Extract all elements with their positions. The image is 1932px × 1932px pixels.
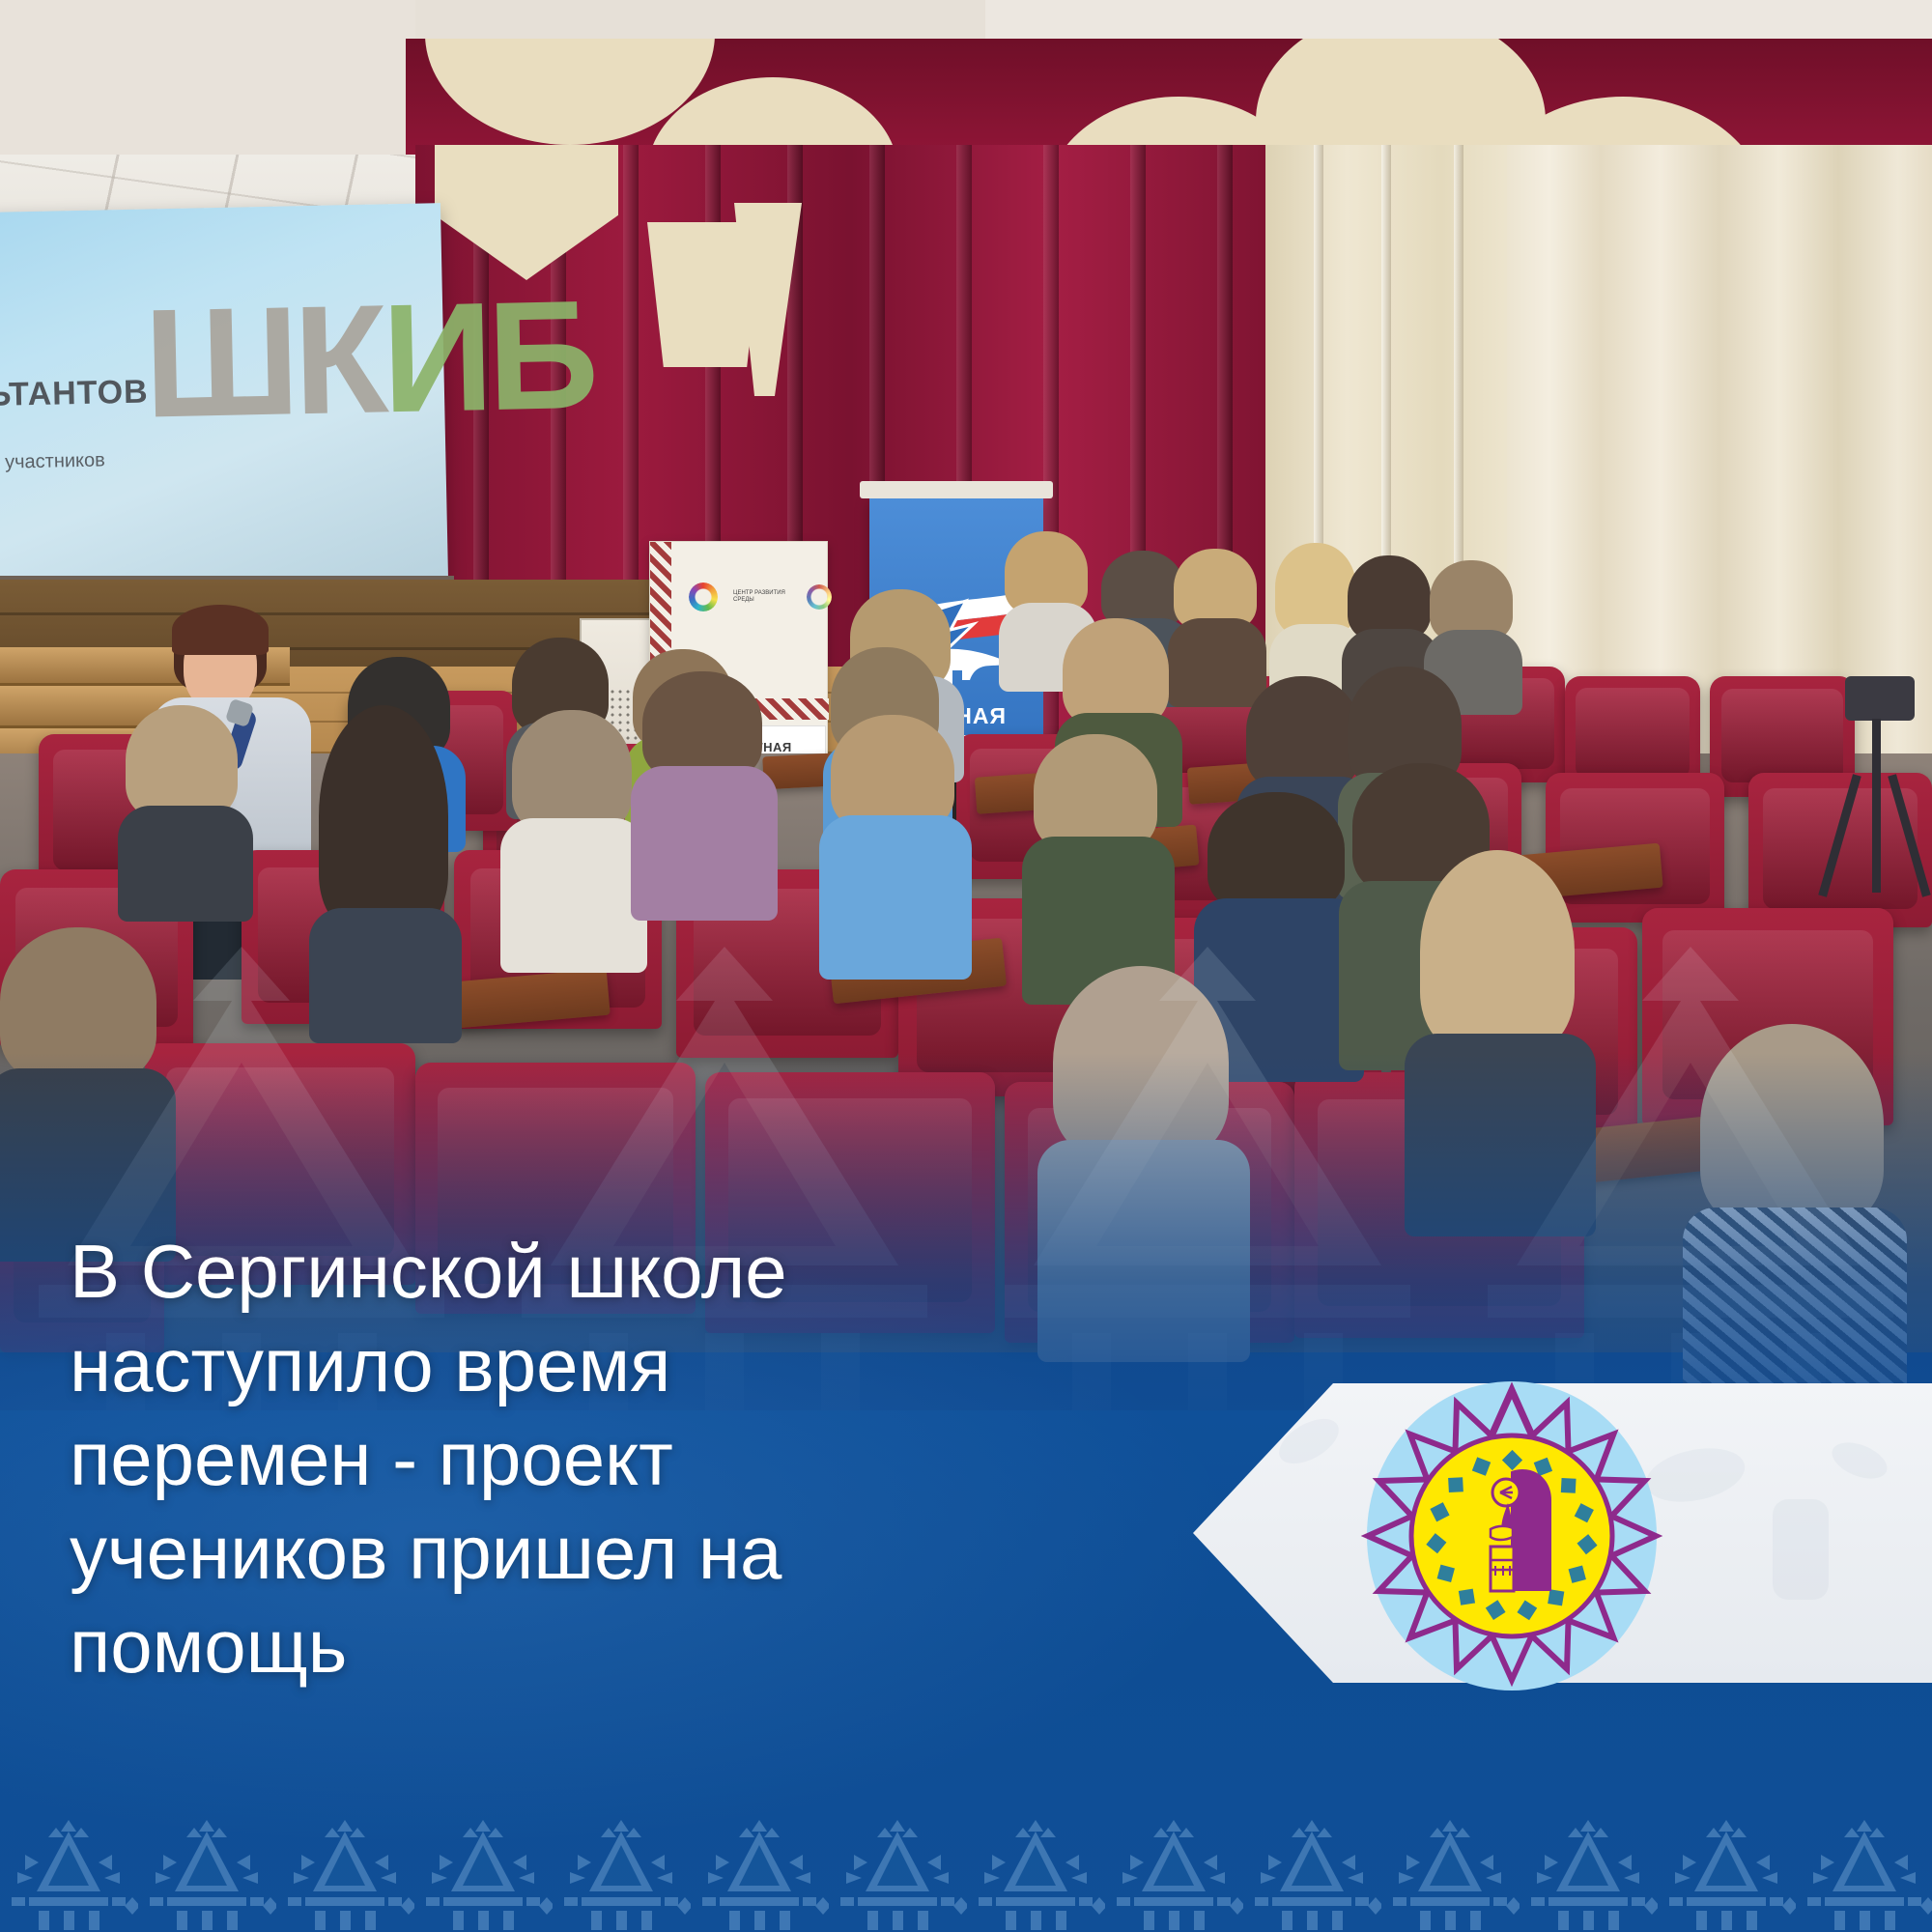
side-drape-right: [1507, 145, 1932, 763]
headline-line-5: помощь: [70, 1600, 1055, 1693]
projection-screen: ...УЛЬТАНТОВ ...ем всех участников ШКИБ: [0, 203, 448, 589]
social-media-post-card: ...УЛЬТАНТОВ ...ем всех участников ШКИБ …: [0, 0, 1932, 1932]
screen-line-2: ...ем всех участников: [0, 449, 105, 475]
headline-line-4: учеников пришел на: [70, 1506, 1055, 1600]
headline-line-3: перемен - проект: [70, 1412, 1055, 1506]
snowflake-ornament-band: [0, 1816, 1932, 1932]
camera-tripod: [1816, 676, 1922, 898]
rollup-logo-caption: ЦЕНТР РАЗВИТИЯ СРЕДЫ: [733, 590, 791, 605]
screen-line-1: ...УЛЬТАНТОВ: [0, 373, 149, 415]
shkib-logo-text: ШКИБ: [143, 277, 595, 441]
district-coat-of-arms: [1352, 1377, 1671, 1695]
partner-logo-icon: [807, 584, 832, 610]
headline-line-1: В Сергинской школе: [70, 1225, 1055, 1319]
center-logo-icon: [689, 582, 718, 611]
headline-line-2: наступило время: [70, 1319, 1055, 1412]
post-headline: В Сергинской школе наступило время перем…: [70, 1225, 1055, 1693]
emblem-figure: [1491, 1469, 1551, 1591]
